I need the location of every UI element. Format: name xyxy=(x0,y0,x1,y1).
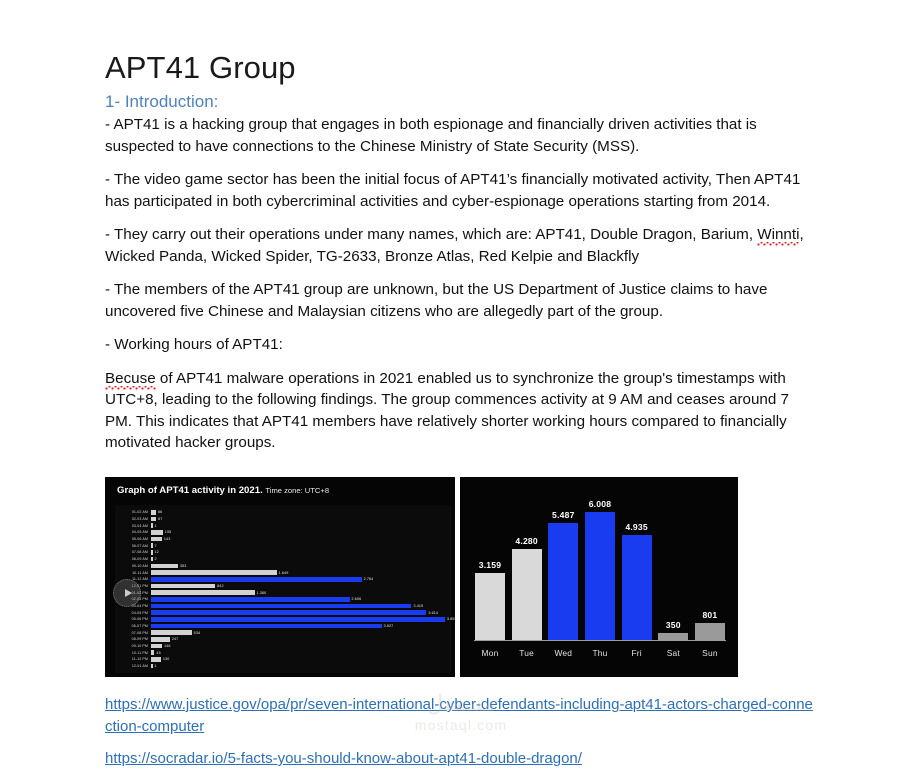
chart-hourly-subtitle: Time zone: UTC+8 xyxy=(265,486,329,495)
section-heading: 1- Introduction: xyxy=(105,92,810,112)
paragraph-timestamps: Becuse of APT41 malware operations in 20… xyxy=(105,368,810,454)
chart-hourly-bar-wrap: 12 xyxy=(151,549,449,556)
chart-hourly-bar xyxy=(151,510,156,515)
chart-hourly-row: 05-06 AM143 xyxy=(115,536,449,543)
chart-hourly-row-label: 06-07 PM xyxy=(115,624,151,628)
chart-hourly-bar-wrap: 353 xyxy=(151,563,449,570)
chart-hourly-bar-wrap: 66 xyxy=(151,509,449,516)
chart-hourly-bar xyxy=(151,577,362,582)
chart-hourly-bar xyxy=(151,543,153,548)
chart-hourly-row: 08-09 PM247 xyxy=(115,636,449,643)
chart-hourly-value-label: 155 xyxy=(165,530,171,534)
chart-hourly-bar xyxy=(151,590,255,595)
figures-row: Graph of APT41 activity in 2021. Time zo… xyxy=(105,477,738,677)
chart-hourly-bar xyxy=(151,557,153,562)
chart-weekday-value-label: 4.280 xyxy=(515,536,538,546)
chart-hourly-bar xyxy=(151,584,215,589)
chart-hourly-value-label: 1.360 xyxy=(257,591,267,595)
chart-hourly-bar-wrap: 45 xyxy=(151,649,449,656)
chart-hourly-bar-wrap: 130 xyxy=(151,656,449,663)
chart-hourly-value-label: 45 xyxy=(156,651,160,655)
paragraph-working-hours-label: - Working hours of APT41: xyxy=(105,334,810,356)
chart-hourly-row-label: 04-05 PM xyxy=(115,611,151,615)
paragraph-aliases: - They carry out their operations under … xyxy=(105,224,810,267)
chart-hourly-bar-wrap: 3.027 xyxy=(151,623,449,630)
chart-hourly-bar-wrap: 3.859 xyxy=(151,616,455,623)
chart-hourly-bar xyxy=(151,530,163,535)
reference-links: https://www.justice.gov/opa/pr/seven-int… xyxy=(105,694,815,770)
chart-weekday-value-label: 350 xyxy=(666,620,681,630)
chart-hourly-value-label: 1.649 xyxy=(279,571,289,575)
chart-hourly-row: 11-12 PM130 xyxy=(115,656,449,663)
chart-hourly-value-label: 842 xyxy=(217,584,223,588)
chart-hourly-bar-wrap: 2 xyxy=(151,556,449,563)
chart-weekday-xlabel: Fri xyxy=(621,648,653,658)
chart-hourly-bar xyxy=(151,517,156,522)
chart-hourly-value-label: 130 xyxy=(163,657,169,661)
chart-weekday-xlabel: Sat xyxy=(657,648,689,658)
chart-hourly-title: Graph of APT41 activity in 2021. Time zo… xyxy=(117,485,329,496)
chart-hourly-plot: 01-02 AM6602-03 AM6703-04 AM104-05 AM155… xyxy=(115,505,451,673)
chart-hourly-row-label: 07-08 AM xyxy=(115,550,151,554)
chart-weekday-plot: 3.1594.2805.4876.0084.935350801 MonTueWe… xyxy=(474,489,726,667)
chart-hourly-bar xyxy=(151,564,178,569)
misspelled-word-winnti: Winnti xyxy=(757,226,799,248)
chart-hourly-row: 10-11 PM45 xyxy=(115,649,449,656)
chart-weekday-xlabel: Tue xyxy=(511,648,543,658)
chart-hourly-bar-wrap: 3.614 xyxy=(151,609,449,616)
chart-hourly-row-label: 06-07 AM xyxy=(115,544,151,548)
chart-hourly-bar xyxy=(151,664,153,669)
chart-hourly-row-label: 03-04 AM xyxy=(115,524,151,528)
chart-hourly-bar-wrap: 143 xyxy=(151,536,449,543)
chart-hourly-value-label: 247 xyxy=(172,637,178,641)
chart-hourly-bar-wrap: 534 xyxy=(151,629,449,636)
chart-hourly-bar xyxy=(151,570,277,575)
chart-hourly-row: 09-10 AM353 xyxy=(115,563,449,570)
paragraph-text: - The members of the APT41 group are unk… xyxy=(105,281,767,320)
chart-hourly-bar-wrap: 2.764 xyxy=(151,576,449,583)
chart-hourly-bar-wrap: 842 xyxy=(151,583,449,590)
chart-hourly-row-label: 09-10 PM xyxy=(115,644,151,648)
chart-hourly-row-label: 09-10 AM xyxy=(115,564,151,568)
chart-weekday-bar xyxy=(475,573,505,640)
chart-hourly-bar xyxy=(151,657,161,662)
chart-hourly-row-label: 08-09 PM xyxy=(115,637,151,641)
chart-hourly-value-label: 146 xyxy=(164,644,170,648)
paragraph-text-part: - They carry out their operations under … xyxy=(105,226,757,243)
chart-hourly-value-label: 12 xyxy=(155,550,159,554)
chart-hourly-value-label: 353 xyxy=(180,564,186,568)
link-justice-gov[interactable]: https://www.justice.gov/opa/pr/seven-int… xyxy=(105,694,815,737)
chart-hourly-row: 07-08 AM12 xyxy=(115,549,449,556)
chart-weekday-bar xyxy=(512,549,542,640)
chart-hourly-value-label: 67 xyxy=(158,517,162,521)
paragraph-text: - The video game sector has been the ini… xyxy=(105,171,800,210)
play-icon[interactable] xyxy=(113,579,141,607)
chart-weekday-xaxis: MonTueWedThuFriSatSun xyxy=(474,643,726,663)
page-title: APT41 Group xyxy=(105,50,810,86)
chart-hourly-bar xyxy=(151,630,192,635)
chart-weekday-value-label: 4.935 xyxy=(625,522,648,532)
chart-hourly-value-label: 3.027 xyxy=(384,624,394,628)
chart-hourly-row-label: 11-12 PM xyxy=(115,657,151,661)
chart-hourly-value-label: 2 xyxy=(155,557,157,561)
chart-hourly-row-label: 01-02 AM xyxy=(115,510,151,514)
chart-hourly-row: 02-03 AM67 xyxy=(115,516,449,523)
chart-hourly-row: 11-12 AM2.764 xyxy=(115,576,449,583)
chart-hourly-row: 08-09 AM2 xyxy=(115,556,449,563)
chart-hourly-bar xyxy=(151,644,162,649)
chart-weekday-column: 350 xyxy=(657,489,689,640)
chart-hourly-value-label: 3.419 xyxy=(413,604,423,608)
chart-hourly-rows: 01-02 AM6602-03 AM6703-04 AM104-05 AM155… xyxy=(115,509,449,670)
document-page: APT41 Group 1- Introduction: - APT41 is … xyxy=(0,0,915,767)
chart-hourly-row: 04-05 PM3.614 xyxy=(115,609,449,616)
chart-hourly-bar xyxy=(151,650,154,655)
chart-hourly-bar-wrap: 2.606 xyxy=(151,596,449,603)
chart-hourly-row: 09-10 PM146 xyxy=(115,643,449,650)
chart-hourly-bar xyxy=(151,597,350,602)
play-triangle xyxy=(125,589,132,597)
chart-hourly-row: 06-07 PM3.027 xyxy=(115,623,449,630)
chart-weekday-bar xyxy=(548,523,578,640)
chart-weekday-value-label: 6.008 xyxy=(589,499,612,509)
chart-hourly-row: 01-02 AM66 xyxy=(115,509,449,516)
chart-hourly-row: 06-07 AM7 xyxy=(115,542,449,549)
chart-hourly-row: 01-02 PM1.360 xyxy=(115,589,449,596)
chart-weekday-bar xyxy=(622,535,652,640)
misspelled-word-becuse: Becuse xyxy=(105,370,156,392)
chart-hourly-row: 07-08 PM534 xyxy=(115,629,449,636)
paragraph-intro: - APT41 is a hacking group that engages … xyxy=(105,114,810,157)
chart-hourly-row-label: 04-05 AM xyxy=(115,530,151,534)
chart-hourly-row: 02-03 PM2.606 xyxy=(115,596,449,603)
chart-weekday-column: 4.935 xyxy=(621,489,653,640)
chart-hourly-bar-wrap: 247 xyxy=(151,636,449,643)
chart-weekday-bar xyxy=(695,623,725,640)
chart-hourly-value-label: 3.614 xyxy=(428,611,438,615)
chart-hourly-value-label: 7 xyxy=(155,544,157,548)
paragraph-text: - Working hours of APT41: xyxy=(105,336,283,353)
chart-hourly-bar xyxy=(151,617,445,622)
paragraph-members: - The members of the APT41 group are unk… xyxy=(105,279,810,322)
chart-hourly-row-label: 05-06 AM xyxy=(115,537,151,541)
chart-hourly-bar xyxy=(151,624,382,629)
chart-weekday-bar xyxy=(658,633,688,640)
chart-weekday-value-label: 3.159 xyxy=(479,560,502,570)
chart-hourly-value-label: 1 xyxy=(155,524,157,528)
chart-hourly-row: 05-06 PM3.859 xyxy=(115,616,449,623)
chart-weekday-xlabel: Thu xyxy=(584,648,616,658)
chart-hourly-bar-wrap: 1.360 xyxy=(151,589,449,596)
chart-hourly-row: 04-05 AM155 xyxy=(115,529,449,536)
chart-hourly-value-label: 3.859 xyxy=(447,617,455,621)
chart-weekday-value-label: 5.487 xyxy=(552,510,575,520)
chart-weekday-bar xyxy=(585,512,615,640)
chart-weekday-activity: 3.1594.2805.4876.0084.935350801 MonTueWe… xyxy=(460,477,738,677)
paragraph-text-part: of APT41 malware operations in 2021 enab… xyxy=(105,370,789,452)
chart-hourly-row: 12-01 AM1 xyxy=(115,663,449,670)
chart-weekday-column: 3.159 xyxy=(474,489,506,640)
chart-hourly-row-label: 02-03 AM xyxy=(115,517,151,521)
chart-hourly-bar-wrap: 7 xyxy=(151,542,449,549)
chart-weekday-xlabel: Mon xyxy=(474,648,506,658)
chart-hourly-value-label: 66 xyxy=(158,510,162,514)
chart-hourly-bar xyxy=(151,523,153,528)
chart-hourly-bar-wrap: 1 xyxy=(151,663,449,670)
chart-weekday-xlabel: Sun xyxy=(694,648,726,658)
chart-hourly-bar xyxy=(151,537,162,542)
chart-hourly-activity: Graph of APT41 activity in 2021. Time zo… xyxy=(105,477,455,677)
chart-hourly-value-label: 534 xyxy=(194,631,200,635)
chart-hourly-bar-wrap: 1.649 xyxy=(151,569,449,576)
chart-hourly-bar xyxy=(151,604,411,609)
chart-hourly-row: 10-11 AM1.649 xyxy=(115,569,449,576)
chart-weekday-value-label: 801 xyxy=(702,610,717,620)
chart-hourly-title-text: Graph of APT41 activity in 2021. xyxy=(117,485,263,496)
document-body: APT41 Group 1- Introduction: - APT41 is … xyxy=(105,50,810,466)
chart-hourly-bar-wrap: 146 xyxy=(151,643,449,650)
chart-hourly-bar-wrap: 67 xyxy=(151,516,449,523)
chart-weekday-column: 5.487 xyxy=(547,489,579,640)
chart-weekday-bars: 3.1594.2805.4876.0084.935350801 xyxy=(474,489,726,641)
chart-weekday-xlabel: Wed xyxy=(547,648,579,658)
chart-hourly-row: 03-04 AM1 xyxy=(115,522,449,529)
link-socradar[interactable]: https://socradar.io/5-facts-you-should-k… xyxy=(105,748,815,770)
chart-hourly-bar-wrap: 155 xyxy=(151,529,449,536)
chart-hourly-bar-wrap: 3.419 xyxy=(151,603,449,610)
chart-hourly-bar xyxy=(151,610,426,615)
chart-weekday-column: 6.008 xyxy=(584,489,616,640)
chart-hourly-value-label: 2.606 xyxy=(352,597,362,601)
chart-hourly-bar xyxy=(151,637,170,642)
chart-hourly-value-label: 1 xyxy=(155,664,157,668)
chart-hourly-bar-wrap: 1 xyxy=(151,522,449,529)
paragraph-text: - APT41 is a hacking group that engages … xyxy=(105,116,757,155)
paragraph-video-game: - The video game sector has been the ini… xyxy=(105,169,810,212)
chart-hourly-row: 12-01 PM842 xyxy=(115,583,449,590)
chart-hourly-row-label: 05-06 PM xyxy=(115,617,151,621)
chart-hourly-row: 03-04 PM3.419 xyxy=(115,603,449,610)
chart-hourly-row-label: 10-11 PM xyxy=(115,651,151,655)
chart-hourly-value-label: 2.764 xyxy=(364,577,374,581)
chart-hourly-row-label: 08-09 AM xyxy=(115,557,151,561)
chart-hourly-bar xyxy=(151,550,153,555)
chart-hourly-row-label: 07-08 PM xyxy=(115,631,151,635)
chart-hourly-row-label: 12-01 AM xyxy=(115,664,151,668)
chart-hourly-row-label: 10-11 AM xyxy=(115,571,151,575)
chart-hourly-value-label: 143 xyxy=(164,537,170,541)
chart-weekday-column: 801 xyxy=(694,489,726,640)
chart-weekday-column: 4.280 xyxy=(511,489,543,640)
